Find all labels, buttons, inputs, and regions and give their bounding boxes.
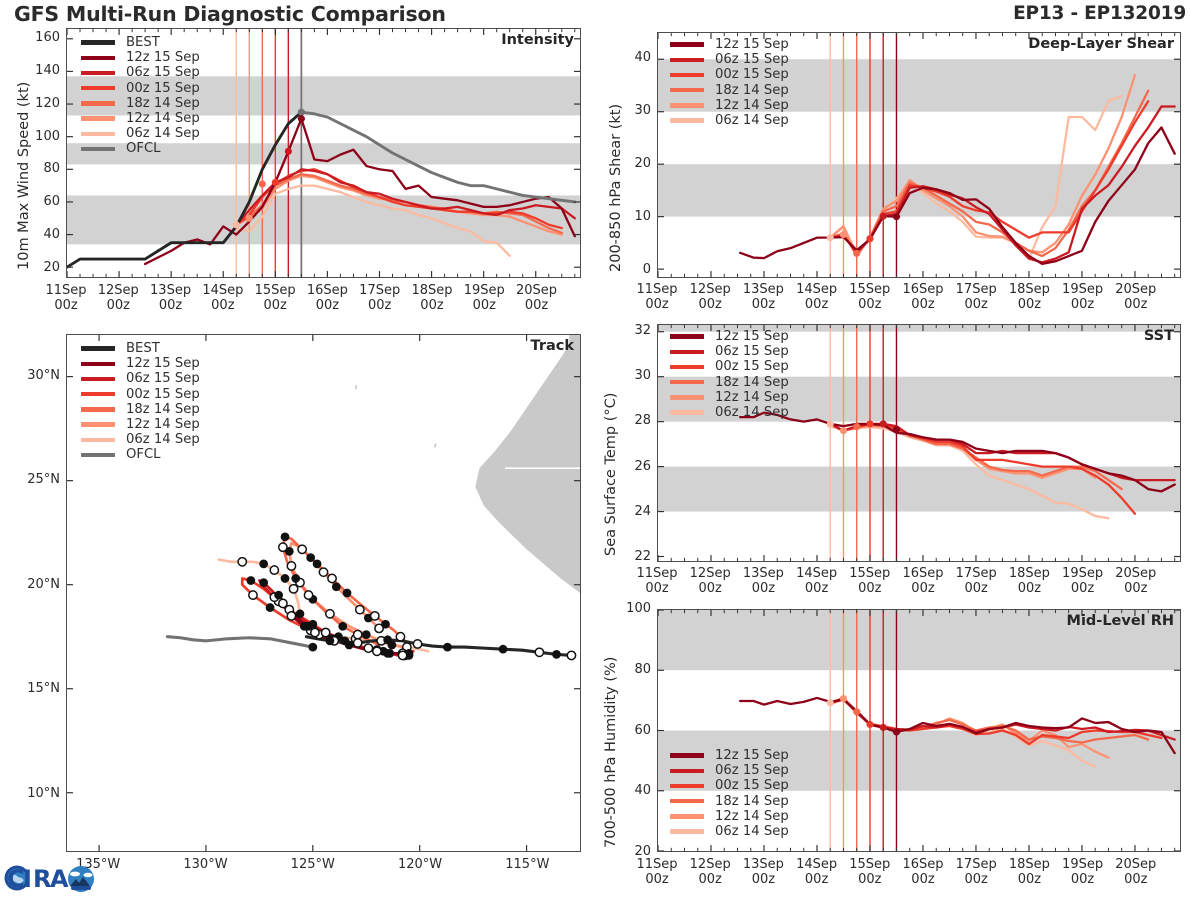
legend-swatch	[670, 365, 704, 369]
axis-tick-label: 25°N	[6, 472, 60, 487]
axis-tick-label: 20Sep00z	[1103, 857, 1169, 887]
cira-logo: C I R A	[3, 856, 115, 898]
legend-label: 12z 15 Sep	[715, 330, 789, 343]
legend-swatch	[81, 40, 115, 44]
legend-swatch	[81, 438, 115, 442]
legend-label: 12z 14 Sep	[715, 99, 789, 112]
axis-tick-label: 40	[611, 783, 651, 798]
axis-tick-label: 20	[611, 156, 651, 171]
legend-label: 06z 14 Sep	[715, 406, 789, 419]
axis-tick-label: 24	[611, 504, 651, 519]
xtick-hour: 00z	[858, 872, 881, 887]
xtick-hour: 00z	[965, 872, 988, 887]
xtick-hour: 00z	[805, 297, 828, 312]
legend-label: OFCL	[126, 142, 161, 155]
legend-label: 06z 14 Sep	[715, 114, 789, 127]
xtick-day: 14Sep	[202, 283, 243, 298]
svg-text:I: I	[23, 865, 32, 893]
xtick-hour: 00z	[699, 297, 722, 312]
xtick-day: 15Sep	[849, 566, 890, 581]
axis-tick-label: 20	[20, 260, 60, 275]
xtick-day: 16Sep	[307, 283, 348, 298]
xtick-hour: 00z	[211, 298, 234, 313]
panel-label-sst: SST	[1144, 328, 1174, 344]
legend-item: 12z 15 Sep	[670, 37, 789, 52]
legend-label: 06z 15 Sep	[715, 764, 789, 777]
panel-sst: SST 12z 15 Sep06z 15 Sep00z 15 Sep18z 14…	[657, 324, 1181, 562]
axis-tick-label: 10	[611, 209, 651, 224]
axis-tick-label: 100	[611, 601, 651, 616]
xtick-day: 20Sep	[1115, 566, 1156, 581]
xtick-day: 18Sep	[1009, 566, 1050, 581]
axis-tick-label: 140	[20, 63, 60, 78]
xtick-day: 13Sep	[150, 283, 191, 298]
axis-tick-label: 0	[611, 262, 651, 277]
legend-swatch	[670, 334, 704, 338]
xtick-hour: 00z	[1124, 872, 1147, 887]
xtick-day: 11Sep	[45, 283, 86, 298]
legend-label: 06z 15 Sep	[715, 345, 789, 358]
legend-swatch	[670, 350, 704, 354]
legend-label: 12z 15 Sep	[715, 38, 789, 51]
xtick-day: 19Sep	[1062, 857, 1103, 872]
panel-rh: Mid-Level RH 12z 15 Sep06z 15 Sep00z 15 …	[657, 609, 1181, 852]
xtick-hour: 00z	[1071, 872, 1094, 887]
xtick-day: 16Sep	[902, 282, 943, 297]
legend-label: BEST	[126, 342, 160, 355]
xtick-day: 18Sep	[1009, 282, 1050, 297]
xtick-hour: 00z	[1018, 581, 1041, 596]
xtick-hour: 00z	[752, 581, 775, 596]
legend-swatch	[670, 88, 704, 92]
xtick-hour: 00z	[911, 872, 934, 887]
legend-label: 06z 14 Sep	[126, 127, 200, 140]
legend-item: 12z 14 Sep	[81, 417, 200, 432]
legend-item: 00z 15 Sep	[81, 81, 200, 96]
legend-item: BEST	[81, 341, 200, 356]
xtick-hour: 00z	[1018, 297, 1041, 312]
xtick-day: 17Sep	[359, 283, 400, 298]
axis-tick-label: 30	[611, 368, 651, 383]
xtick-hour: 00z	[263, 298, 286, 313]
legend-label: 12z 15 Sep	[715, 749, 789, 762]
legend-swatch	[81, 377, 115, 381]
xtick-day: 20Sep	[516, 283, 557, 298]
xtick-day: 15Sep	[849, 282, 890, 297]
legend-swatch	[81, 147, 115, 151]
xtick-day: 14Sep	[796, 282, 837, 297]
legend-label: 12z 14 Sep	[715, 391, 789, 404]
xtick-hour: 00z	[316, 298, 339, 313]
legend-item: 12z 15 Sep	[670, 748, 789, 763]
axis-tick-label: 32	[611, 323, 651, 338]
panel-label-shear: Deep-Layer Shear	[1028, 36, 1174, 52]
legend-item: 12z 14 Sep	[670, 809, 789, 824]
xtick-day: 19Sep	[1062, 566, 1103, 581]
xtick-day: 18Sep	[1009, 857, 1050, 872]
xtick-hour: 00z	[645, 297, 668, 312]
xtick-day: 12Sep	[690, 282, 731, 297]
legend-swatch	[81, 71, 115, 75]
legend-label: 18z 14 Sep	[126, 403, 200, 416]
legend-label: 12z 14 Sep	[126, 112, 200, 125]
storm-id-title: EP13 - EP132019	[1013, 3, 1186, 24]
xtick-day: 15Sep	[849, 857, 890, 872]
legend-swatch	[670, 103, 704, 107]
axis-tick-label: 10°N	[6, 786, 60, 801]
xtick-hour: 00z	[1124, 581, 1147, 596]
xtick-hour: 00z	[965, 581, 988, 596]
legend-item: 06z 15 Sep	[670, 344, 789, 359]
axis-tick-label: 60	[611, 723, 651, 738]
axis-tick-label: 40	[611, 50, 651, 65]
legend-item: 12z 14 Sep	[670, 390, 789, 405]
legend-swatch	[81, 132, 115, 136]
xtick-hour: 00z	[420, 298, 443, 313]
legend-label: 00z 15 Sep	[715, 360, 789, 373]
legend-item: 06z 14 Sep	[670, 113, 789, 128]
xtick-day: 12Sep	[690, 566, 731, 581]
legend-intensity: BEST12z 15 Sep06z 15 Sep00z 15 Sep18z 14…	[81, 35, 200, 157]
xtick-day: 19Sep	[1062, 282, 1103, 297]
legend-swatch	[81, 362, 115, 366]
legend-swatch	[670, 73, 704, 77]
xtick-hour: 00z	[965, 297, 988, 312]
legend-item: BEST	[81, 35, 200, 50]
xtick-day: 16Sep	[902, 857, 943, 872]
legend-swatch	[670, 410, 704, 414]
xtick-day: 15Sep	[255, 283, 296, 298]
legend-item: 06z 14 Sep	[81, 126, 200, 141]
legend-swatch	[81, 116, 115, 120]
legend-track: BEST12z 15 Sep06z 15 Sep00z 15 Sep18z 14…	[81, 341, 200, 463]
legend-swatch	[81, 453, 115, 457]
legend-label: OFCL	[126, 448, 161, 461]
legend-shear: 12z 15 Sep06z 15 Sep00z 15 Sep18z 14 Sep…	[670, 37, 789, 128]
panel-intensity: Intensity BEST12z 15 Sep06z 15 Sep00z 15…	[66, 28, 581, 278]
legend-item: 18z 14 Sep	[670, 375, 789, 390]
xtick-day: 17Sep	[956, 857, 997, 872]
xtick-day: 18Sep	[411, 283, 452, 298]
axis-tick-label: 120	[20, 96, 60, 111]
legend-label: 18z 14 Sep	[715, 84, 789, 97]
legend-item: 06z 15 Sep	[81, 65, 200, 80]
axis-label-rh-y: 700-500 hPa Humidity (%)	[603, 657, 619, 848]
axis-tick-label: 30°N	[6, 368, 60, 383]
svg-text:C: C	[7, 865, 25, 893]
legend-label: 06z 15 Sep	[715, 53, 789, 66]
page-title: GFS Multi-Run Diagnostic Comparison	[14, 2, 446, 26]
xtick-hour: 00z	[473, 298, 496, 313]
legend-item: OFCL	[81, 447, 200, 462]
xtick-day: 20Sep	[1115, 282, 1156, 297]
axis-tick-label: 120°W	[385, 857, 455, 872]
legend-item: 00z 15 Sep	[81, 387, 200, 402]
legend-swatch	[670, 769, 704, 773]
xtick-day: 13Sep	[743, 566, 784, 581]
xtick-hour: 00z	[858, 581, 881, 596]
xtick-hour: 00z	[159, 298, 182, 313]
legend-item: 06z 15 Sep	[670, 763, 789, 778]
panel-label-intensity: Intensity	[501, 32, 574, 48]
legend-label: 00z 15 Sep	[715, 779, 789, 792]
legend-label: 06z 15 Sep	[126, 66, 200, 79]
xtick-hour: 00z	[805, 581, 828, 596]
xtick-hour: 00z	[1071, 297, 1094, 312]
legend-swatch	[81, 101, 115, 105]
xtick-hour: 00z	[1124, 297, 1147, 312]
xtick-day: 14Sep	[796, 857, 837, 872]
panel-track: Track BEST12z 15 Sep06z 15 Sep00z 15 Sep…	[66, 334, 581, 852]
panel-shear: Deep-Layer Shear 12z 15 Sep06z 15 Sep00z…	[657, 32, 1181, 278]
legend-label: 06z 14 Sep	[715, 825, 789, 838]
legend-swatch	[81, 407, 115, 411]
xtick-hour: 00z	[699, 872, 722, 887]
axis-tick-label: 15°N	[6, 681, 60, 696]
xtick-hour: 00z	[368, 298, 391, 313]
xtick-day: 16Sep	[902, 566, 943, 581]
xtick-hour: 00z	[752, 872, 775, 887]
legend-swatch	[670, 784, 704, 788]
legend-item: 12z 15 Sep	[81, 50, 200, 65]
legend-swatch	[81, 86, 115, 90]
axis-tick-label: 22	[611, 549, 651, 564]
legend-swatch	[670, 799, 704, 803]
legend-item: 18z 14 Sep	[81, 96, 200, 111]
xtick-hour: 00z	[1018, 872, 1041, 887]
xtick-hour: 00z	[805, 872, 828, 887]
axis-tick-label: 60	[20, 194, 60, 209]
axis-tick-label: 20Sep00z	[1103, 282, 1169, 312]
legend-swatch	[81, 346, 115, 350]
xtick-day: 13Sep	[743, 282, 784, 297]
legend-rh: 12z 15 Sep06z 15 Sep00z 15 Sep18z 14 Sep…	[670, 748, 789, 839]
legend-swatch	[670, 118, 704, 122]
xtick-hour: 00z	[645, 872, 668, 887]
legend-label: 06z 14 Sep	[126, 433, 200, 446]
legend-item: OFCL	[81, 141, 200, 156]
xtick-day: 11Sep	[636, 282, 677, 297]
xtick-hour: 00z	[752, 297, 775, 312]
legend-item: 06z 14 Sep	[670, 824, 789, 839]
xtick-hour: 00z	[911, 581, 934, 596]
axis-tick-label: 80	[611, 662, 651, 677]
xtick-hour: 00z	[1071, 581, 1094, 596]
legend-item: 18z 14 Sep	[670, 83, 789, 98]
axis-label-shear-y: 200-850 hPa Shear (kt)	[608, 104, 624, 272]
legend-label: 12z 15 Sep	[126, 357, 200, 370]
xtick-day: 12Sep	[690, 857, 731, 872]
axis-tick-label: 100	[20, 129, 60, 144]
legend-label: 00z 15 Sep	[126, 82, 200, 95]
legend-label: 06z 15 Sep	[126, 372, 200, 385]
svg-text:R: R	[33, 865, 51, 893]
legend-swatch	[81, 422, 115, 426]
axis-tick-label: 20°N	[6, 577, 60, 592]
axis-tick-label: 160	[20, 30, 60, 45]
legend-item: 12z 14 Sep	[670, 98, 789, 113]
legend-item: 18z 14 Sep	[81, 402, 200, 417]
axis-tick-label: 26	[611, 459, 651, 474]
legend-item: 12z 15 Sep	[81, 356, 200, 371]
xtick-day: 19Sep	[464, 283, 505, 298]
legend-item: 12z 15 Sep	[670, 329, 789, 344]
axis-tick-label: 28	[611, 413, 651, 428]
legend-label: 00z 15 Sep	[715, 68, 789, 81]
legend-swatch	[670, 395, 704, 399]
legend-swatch	[670, 753, 704, 757]
legend-label: 18z 14 Sep	[715, 376, 789, 389]
xtick-hour: 00z	[911, 297, 934, 312]
axis-tick-label: 20Sep00z	[504, 283, 570, 313]
legend-label: 18z 14 Sep	[715, 795, 789, 808]
legend-item: 00z 15 Sep	[670, 359, 789, 374]
legend-item: 06z 15 Sep	[670, 52, 789, 67]
legend-label: 12z 15 Sep	[126, 51, 200, 64]
xtick-hour: 00z	[645, 581, 668, 596]
legend-swatch	[670, 58, 704, 62]
legend-label: BEST	[126, 36, 160, 49]
xtick-day: 17Sep	[956, 566, 997, 581]
legend-sst: 12z 15 Sep06z 15 Sep00z 15 Sep18z 14 Sep…	[670, 329, 789, 420]
axis-tick-label: 30	[611, 103, 651, 118]
panel-label-track: Track	[531, 338, 574, 354]
xtick-hour: 00z	[858, 297, 881, 312]
legend-item: 18z 14 Sep	[670, 794, 789, 809]
axis-tick-label: 80	[20, 161, 60, 176]
xtick-day: 11Sep	[636, 566, 677, 581]
legend-swatch	[670, 380, 704, 384]
legend-item: 12z 14 Sep	[81, 111, 200, 126]
axis-tick-label: 115°W	[492, 857, 562, 872]
legend-swatch	[670, 829, 704, 833]
xtick-day: 13Sep	[743, 857, 784, 872]
legend-label: 12z 14 Sep	[715, 810, 789, 823]
xtick-hour: 00z	[525, 298, 548, 313]
axis-tick-label: 130°W	[170, 857, 240, 872]
xtick-hour: 00z	[54, 298, 77, 313]
xtick-hour: 00z	[699, 581, 722, 596]
axis-tick-label: 125°W	[278, 857, 348, 872]
legend-item: 00z 15 Sep	[670, 778, 789, 793]
svg-text:A: A	[50, 865, 69, 893]
xtick-day: 20Sep	[1115, 857, 1156, 872]
legend-item: 06z 15 Sep	[81, 371, 200, 386]
xtick-day: 12Sep	[98, 283, 139, 298]
legend-swatch	[81, 56, 115, 60]
legend-item: 06z 14 Sep	[670, 405, 789, 420]
legend-label: 18z 14 Sep	[126, 97, 200, 110]
xtick-day: 14Sep	[796, 566, 837, 581]
legend-label: 00z 15 Sep	[126, 388, 200, 401]
xtick-hour: 00z	[107, 298, 130, 313]
legend-item: 00z 15 Sep	[670, 67, 789, 82]
panel-label-rh: Mid-Level RH	[1067, 613, 1174, 629]
axis-tick-label: 20Sep00z	[1103, 566, 1169, 596]
legend-swatch	[81, 392, 115, 396]
xtick-day: 17Sep	[956, 282, 997, 297]
legend-item: 06z 14 Sep	[81, 432, 200, 447]
legend-swatch	[670, 42, 704, 46]
legend-label: 12z 14 Sep	[126, 418, 200, 431]
legend-swatch	[670, 814, 704, 818]
axis-tick-label: 40	[20, 227, 60, 242]
xtick-day: 11Sep	[636, 857, 677, 872]
